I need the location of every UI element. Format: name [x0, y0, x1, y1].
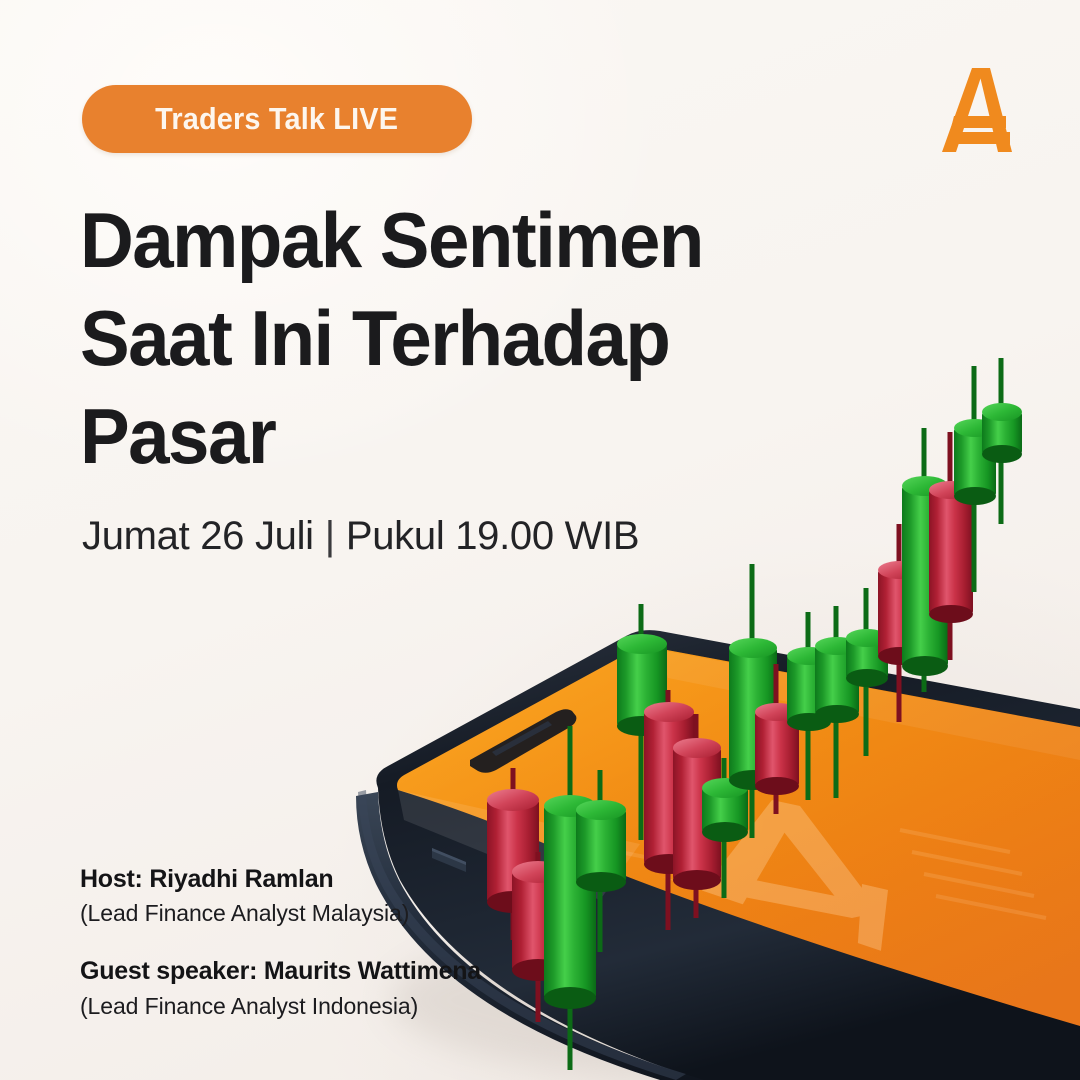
schedule-date: Jumat 26 Juli	[82, 514, 314, 558]
headline-line-2: Saat Ini Terhadap	[80, 290, 806, 388]
live-badge-label: Traders Talk LIVE	[156, 101, 399, 137]
promo-poster: Traders Talk LIVE Dampak Sentimen Saat I…	[0, 0, 1080, 1080]
schedule-line: Jumat 26 Juli|Pukul 19.00 WIB	[82, 514, 639, 559]
headline-line-1: Dampak Sentimen	[80, 192, 806, 290]
guest-role: (Lead Finance Analyst Indonesia)	[80, 991, 481, 1022]
host-name: Host: Riyadhi Ramlan	[80, 863, 481, 896]
schedule-time: Pukul 19.00 WIB	[346, 514, 639, 558]
page-title: Dampak Sentimen Saat Ini Terhadap Pasar	[80, 192, 806, 486]
headline-line-3: Pasar	[80, 388, 806, 486]
credit-guest: Guest speaker: Maurits Wattimena (Lead F…	[80, 955, 481, 1022]
guest-name: Guest speaker: Maurits Wattimena	[80, 955, 481, 988]
schedule-separator: |	[325, 514, 335, 559]
live-badge: Traders Talk LIVE	[82, 85, 472, 153]
credit-host: Host: Riyadhi Ramlan (Lead Finance Analy…	[80, 863, 481, 930]
host-role: (Lead Finance Analyst Malaysia)	[80, 898, 481, 929]
credits-block: Host: Riyadhi Ramlan (Lead Finance Analy…	[80, 863, 481, 1022]
brand-a-logo-icon	[934, 64, 1018, 156]
